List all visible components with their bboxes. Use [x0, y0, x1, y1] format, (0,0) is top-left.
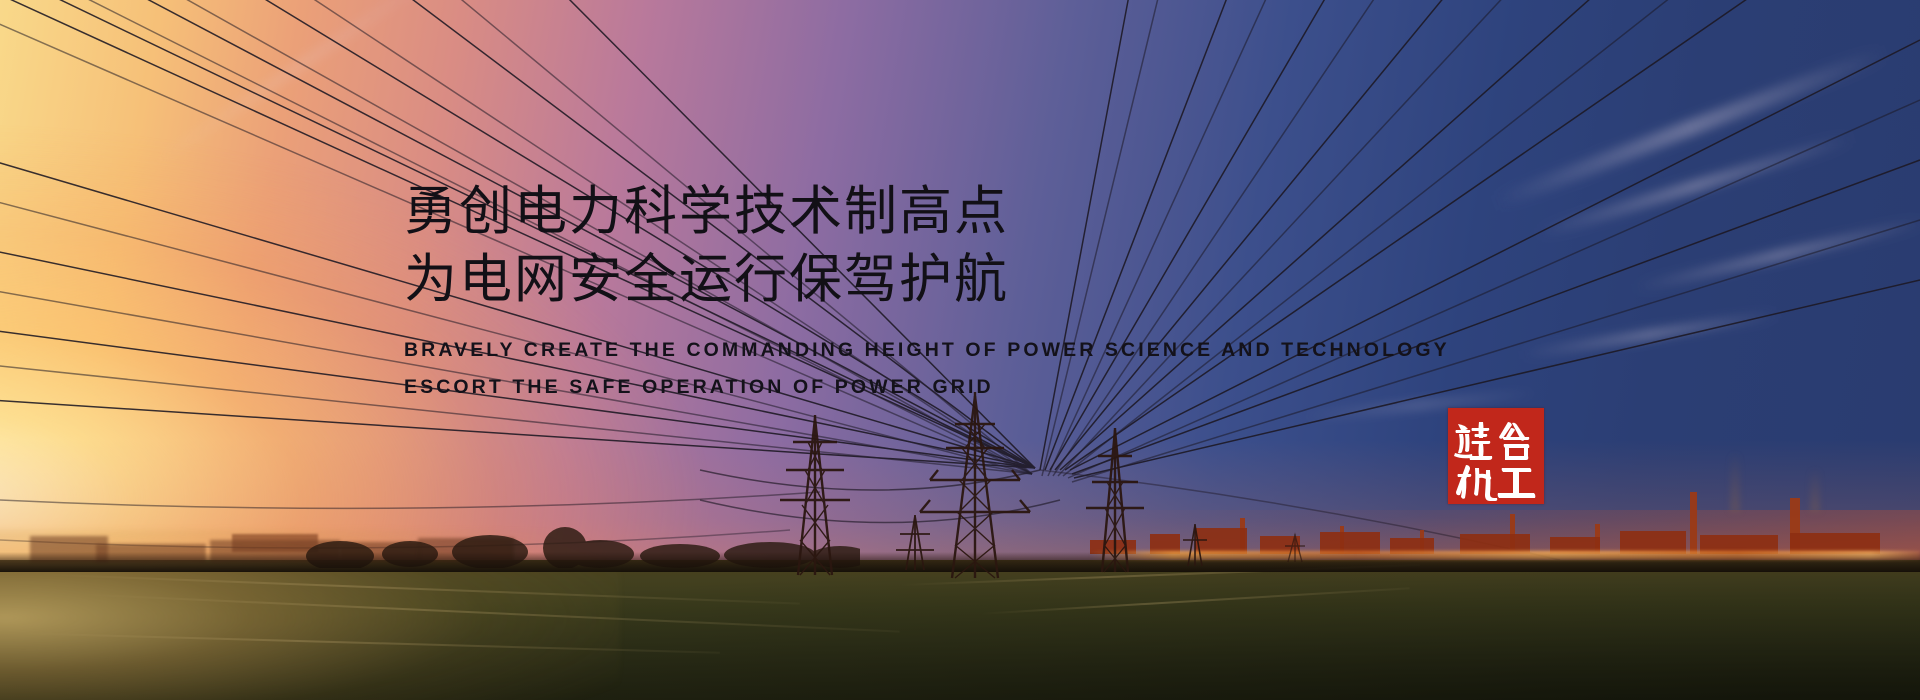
- company-seal-logo[interactable]: [1448, 408, 1544, 504]
- hero-banner: 勇创电力科学技术制高点 为电网安全运行保驾护航 BRAVELY CREATE T…: [0, 0, 1920, 700]
- headline-line-1: 勇创电力科学技术制高点: [404, 178, 1464, 246]
- subtitle-line-1: BRAVELY CREATE THE COMMANDING HEIGHT OF …: [404, 332, 1464, 369]
- seal-inner: [1448, 408, 1544, 504]
- seal-calligraphy: [1448, 408, 1544, 504]
- subtitle-line-2: ESCORT THE SAFE OPERATION OF POWER GRID: [404, 369, 1464, 406]
- hero-copy: 勇创电力科学技术制高点 为电网安全运行保驾护航 BRAVELY CREATE T…: [404, 178, 1464, 406]
- headline-line-2: 为电网安全运行保驾护航: [404, 246, 1464, 314]
